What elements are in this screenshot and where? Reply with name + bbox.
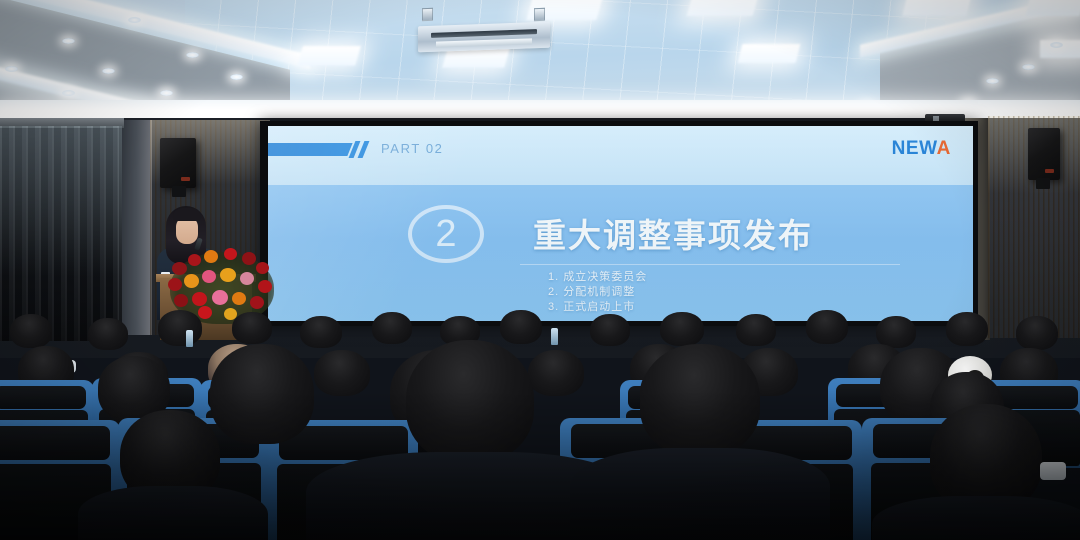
downlight <box>62 90 75 96</box>
ceiling <box>0 0 1080 132</box>
audience-head <box>88 318 128 350</box>
audience-head <box>528 350 584 396</box>
downlight <box>1022 64 1035 70</box>
flower <box>256 262 269 274</box>
slide-title: 重大调整事项发布 <box>533 209 813 257</box>
flower <box>204 250 218 263</box>
audience-head <box>406 340 534 462</box>
audience-head <box>158 310 202 346</box>
water-bottle <box>186 330 193 347</box>
list-item: 1. 成立决策委员会 <box>548 270 647 285</box>
audience-head <box>590 314 630 346</box>
audience-head <box>1016 316 1058 350</box>
ceiling-panel-light <box>687 0 760 16</box>
audience-head <box>314 350 370 396</box>
part-accent-bar <box>268 143 353 156</box>
audience-head <box>300 316 342 348</box>
list-item: 2. 分配机制调整 <box>548 285 647 300</box>
downlight <box>1050 42 1063 48</box>
downlight <box>160 90 173 96</box>
flower <box>240 272 254 285</box>
ac-vent-left <box>422 8 433 21</box>
speaker-bracket-right <box>1036 178 1050 189</box>
newa-logo-accent: A <box>937 138 951 159</box>
downlight <box>986 78 999 84</box>
audience-shoulders <box>570 448 830 540</box>
audience-head <box>10 314 52 348</box>
audience-head <box>372 312 412 344</box>
title-divider <box>520 264 900 265</box>
face-mask <box>1040 462 1066 480</box>
slide-part-label: PART 02 <box>381 141 444 156</box>
downlight <box>102 68 115 74</box>
ceiling-panel-light <box>1026 0 1080 16</box>
flower <box>224 248 237 260</box>
flower <box>202 270 216 283</box>
audience-head <box>640 344 760 456</box>
downlight <box>186 52 199 58</box>
seat-headrest <box>0 426 110 460</box>
audience-head <box>500 310 542 344</box>
audience-area <box>0 300 1080 540</box>
ac-vent-right <box>534 8 545 21</box>
projection-screen[interactable]: PART 02 NEWA 2 重大调整事项发布 1. 成立决策委员会 2. 分配… <box>268 126 973 321</box>
flower <box>242 252 256 265</box>
flower <box>184 274 199 288</box>
audience-head <box>210 344 314 444</box>
flower <box>168 278 182 291</box>
seat-headrest <box>0 386 86 409</box>
ceiling-panel-light <box>738 44 801 63</box>
flower <box>188 254 201 266</box>
presenter-fringe <box>173 208 201 221</box>
audience-head <box>946 312 988 346</box>
audience-shoulders <box>78 486 268 540</box>
audience-head <box>736 314 776 346</box>
audience-shoulders <box>872 496 1080 540</box>
audience-head <box>876 316 916 348</box>
downlight <box>128 17 141 23</box>
downlight <box>5 66 18 72</box>
double-slash-icon <box>352 141 374 158</box>
flower <box>172 262 187 275</box>
wall-speaker-left <box>160 138 196 188</box>
ceiling-panel-light <box>902 0 971 16</box>
downlight <box>230 74 243 80</box>
newa-logo: NEWA <box>892 138 951 160</box>
downlight <box>62 38 75 44</box>
ceiling-ac-unit-icon <box>418 22 550 53</box>
audience-head <box>660 312 704 346</box>
slide-header-band: PART 02 NEWA <box>268 126 973 185</box>
ceiling-panel-light <box>297 46 361 66</box>
speaker-bracket-left <box>172 186 186 197</box>
conference-photo-scene: PART 02 NEWA 2 重大调整事项发布 1. 成立决策委员会 2. 分配… <box>0 0 1080 540</box>
slide-number-badge: 2 <box>408 205 484 263</box>
flower <box>258 280 272 293</box>
water-bottle <box>551 328 558 345</box>
wall-speaker-right <box>1028 128 1060 180</box>
newa-logo-text: NEW <box>892 138 937 159</box>
flower <box>220 268 236 282</box>
audience-head <box>806 310 848 344</box>
audience-head <box>232 312 272 344</box>
